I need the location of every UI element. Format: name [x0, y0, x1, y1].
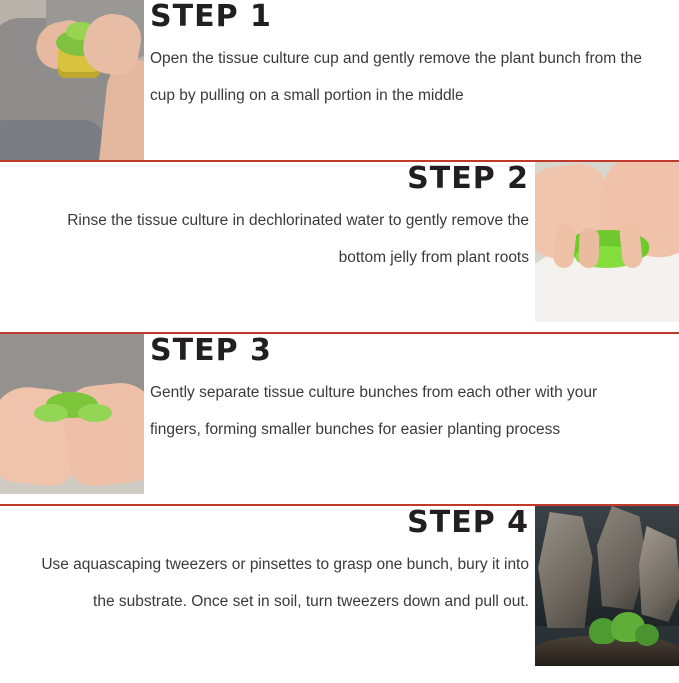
step-body-2: Rinse the tissue culture in dechlorinate…: [28, 196, 529, 276]
step-title-3: STEP 3: [150, 334, 651, 368]
hands-rinsing-plant-in-bowl-photo: [535, 162, 679, 322]
step-body-1: Open the tissue culture cup and gently r…: [150, 34, 651, 114]
step-text-4: STEP 4 Use aquascaping tweezers or pinse…: [28, 506, 529, 620]
step-section-1: STEP 1 Open the tissue culture cup and g…: [0, 0, 679, 160]
step-title-2: STEP 2: [28, 162, 529, 196]
step-text-2: STEP 2 Rinse the tissue culture in dechl…: [28, 162, 529, 276]
step-title-1: STEP 1: [150, 0, 651, 34]
step-section-3: STEP 3 Gently separate tissue culture bu…: [0, 334, 679, 504]
step-section-2: STEP 2 Rinse the tissue culture in dechl…: [0, 162, 679, 332]
step-section-4: STEP 4 Use aquascaping tweezers or pinse…: [0, 506, 679, 677]
hands-separating-plant-bunches-photo: [0, 334, 144, 494]
step-body-3: Gently separate tissue culture bunches f…: [150, 368, 651, 448]
step-text-3: STEP 3 Gently separate tissue culture bu…: [150, 334, 651, 448]
step-text-1: STEP 1 Open the tissue culture cup and g…: [150, 0, 651, 114]
hands-opening-tissue-culture-cup-photo: [0, 0, 144, 160]
step-body-4: Use aquascaping tweezers or pinsettes to…: [28, 540, 529, 620]
instruction-sheet: STEP 1 Open the tissue culture cup and g…: [0, 0, 679, 683]
aquascape-rocks-with-planted-bunches-photo: [535, 506, 679, 666]
step-title-4: STEP 4: [28, 506, 529, 540]
